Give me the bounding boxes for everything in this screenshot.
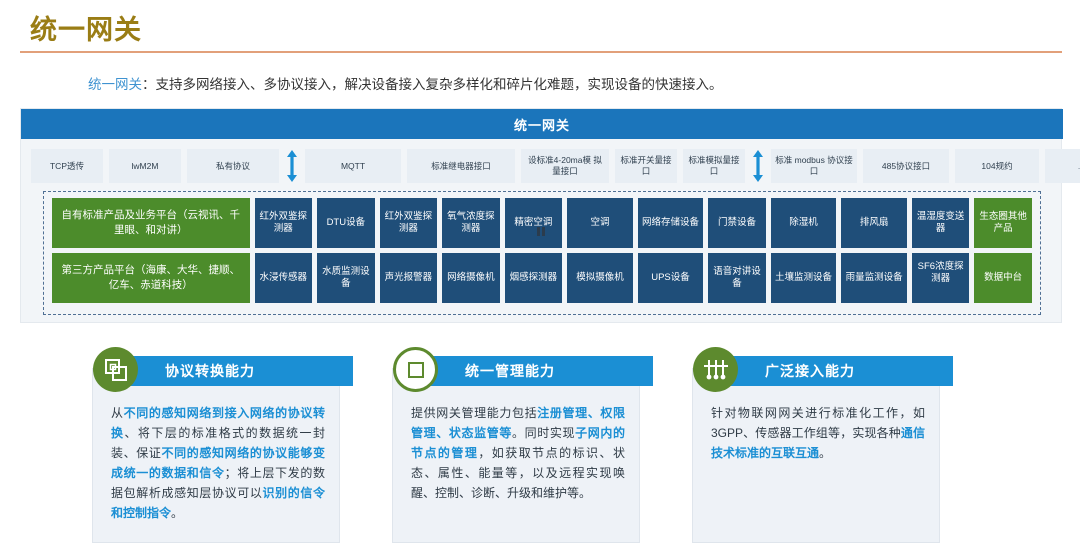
device-box: 网络存储设备	[638, 198, 704, 248]
device-box: 红外双鉴探测器	[380, 198, 438, 248]
device-box: 烟感探测器	[505, 253, 563, 303]
protocol-box: 标准开关量接口	[615, 149, 677, 183]
device-box: 精密空调	[505, 198, 563, 248]
title-divider	[20, 51, 1062, 53]
protocol-box: 设标准4-20ma模 拟量接口	[521, 149, 609, 183]
device-row: 自有标准产品及业务平台（云视讯、千里眼、和对讲）红外双鉴探测器DTU设备红外双鉴…	[52, 198, 1032, 248]
device-box: 模拟摄像机	[567, 253, 633, 303]
gateway-header-label: 统一网关	[514, 115, 570, 134]
card-title: 协议转换能力	[165, 361, 255, 381]
subtitle-lead: 统一网关	[88, 77, 142, 92]
protocol-box: ……	[1045, 149, 1080, 183]
body-text: 。同时实现	[512, 426, 575, 440]
device-box: SF6浓度探测器	[912, 253, 970, 303]
body-text: 。	[171, 506, 183, 520]
region-marker-icon	[533, 227, 549, 236]
protocol-box: 标准模拟量接口	[683, 149, 745, 183]
device-box: 网络摄像机	[442, 253, 500, 303]
card-body: 提供网关管理能力包括注册管理、权限管理、状态监管等。同时实现子网内的节点的管理，…	[411, 403, 625, 503]
arrow-up-down-icon	[285, 149, 299, 183]
wide-access-icon	[693, 347, 738, 392]
device-box: 氧气浓度探测器	[442, 198, 500, 248]
card-title: 统一管理能力	[465, 361, 555, 381]
device-region: 自有标准产品及业务平台（云视讯、千里眼、和对讲）红外双鉴探测器DTU设备红外双鉴…	[43, 191, 1041, 315]
protocol-box: 485协议接口	[863, 149, 949, 183]
device-row: 第三方产品平台（海康、大华、捷顺、亿车、赤道科技）水浸传感器水质监测设备声光报警…	[52, 253, 1032, 303]
device-box: 水浸传感器	[255, 253, 313, 303]
protocol-box: 标准 modbus 协议接口	[771, 149, 857, 183]
card-title: 广泛接入能力	[765, 361, 855, 381]
device-box: DTU设备	[317, 198, 375, 248]
device-box: 语音对讲设备	[708, 253, 766, 303]
body-text: 。	[819, 446, 831, 460]
unified-manage-icon	[393, 347, 438, 392]
arrow-up-down-icon	[751, 149, 765, 183]
device-box: 水质监测设备	[317, 253, 375, 303]
protocol-box: MQTT	[305, 149, 401, 183]
device-box: 除湿机	[771, 198, 837, 248]
card-body: 从不同的感知网络到接入网络的协议转换、将下层的标准格式的数据统一封装、保证不同的…	[111, 403, 325, 523]
protocol-box: lwM2M	[109, 149, 181, 183]
body-text: 从	[111, 406, 124, 420]
subtitle-rest: ：支持多网络接入、多协议接入，解决设备接入复杂多样化和碎片化难题，实现设备的快速…	[142, 77, 723, 92]
device-box: 雨量监测设备	[841, 253, 907, 303]
device-box: 温湿度变送器	[912, 198, 970, 248]
card-header: 统一管理能力	[423, 356, 653, 386]
capability-card: 协议转换能力 从不同的感知网络到接入网络的协议转换、将下层的标准格式的数据统一封…	[92, 368, 340, 543]
page-title: 统一网关	[30, 8, 142, 47]
capability-card: 广泛接入能力 针对物联网网关进行标准化工作，如3GPP、传感器工作组等，实现各种…	[692, 368, 940, 543]
protocol-strip: TCP透传lwM2M私有协议MQTT标准继电器接口设标准4-20ma模 拟量接口…	[21, 147, 1063, 185]
device-box: 生态圈其他产品	[974, 198, 1032, 248]
card-header: 协议转换能力	[123, 356, 353, 386]
card-header: 广泛接入能力	[723, 356, 953, 386]
device-box: 自有标准产品及业务平台（云视讯、千里眼、和对讲）	[52, 198, 250, 248]
device-box: UPS设备	[638, 253, 704, 303]
protocol-box: 私有协议	[187, 149, 279, 183]
device-box: 数据中台	[974, 253, 1032, 303]
card-body: 针对物联网网关进行标准化工作，如3GPP、传感器工作组等，实现各种通信技术标准的…	[711, 403, 925, 463]
device-box: 声光报警器	[380, 253, 438, 303]
gateway-header-bar: 统一网关	[21, 109, 1063, 139]
body-text: 针对物联网网关进行标准化工作，如3GPP、传感器工作组等，实现各种	[711, 406, 925, 440]
protocol-box: 104规约	[955, 149, 1039, 183]
gateway-diagram: 统一网关 TCP透传lwM2M私有协议MQTT标准继电器接口设标准4-20ma模…	[20, 108, 1062, 323]
device-box: 第三方产品平台（海康、大华、捷顺、亿车、赤道科技）	[52, 253, 250, 303]
device-box: 排风扇	[841, 198, 907, 248]
protocol-box: 标准继电器接口	[407, 149, 515, 183]
body-text: 提供网关管理能力包括	[411, 406, 537, 420]
protocol-convert-icon	[93, 347, 138, 392]
device-box: 红外双鉴探测器	[255, 198, 313, 248]
device-box: 土壤监测设备	[771, 253, 837, 303]
device-box: 空调	[567, 198, 633, 248]
capability-card: 统一管理能力 提供网关管理能力包括注册管理、权限管理、状态监管等。同时实现子网内…	[392, 368, 640, 543]
page-subtitle: 统一网关：支持多网络接入、多协议接入，解决设备接入复杂多样化和碎片化难题，实现设…	[88, 73, 723, 93]
device-box: 门禁设备	[708, 198, 766, 248]
protocol-box: TCP透传	[31, 149, 103, 183]
